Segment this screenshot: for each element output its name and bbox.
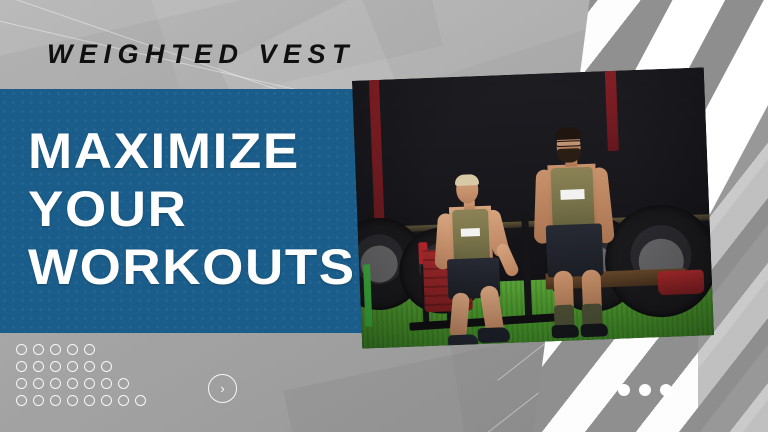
headline-line-3: WORKOUTS [28, 238, 356, 296]
pagination-dot[interactable] [618, 384, 630, 396]
circle-outline-dot [16, 361, 27, 372]
circle-outline-dot [50, 361, 61, 372]
circle-outline-dot [50, 344, 61, 355]
circle-outline-dot [101, 361, 112, 372]
circle-outline-dot [50, 378, 61, 389]
circle-outline-dot [84, 361, 95, 372]
hero-photo-scene [352, 67, 714, 348]
circle-outline-dot [67, 361, 78, 372]
circle-grid-row [16, 344, 146, 355]
circle-outline-dot [33, 378, 44, 389]
pagination-dot[interactable] [660, 384, 672, 396]
circle-outline-dot [84, 344, 95, 355]
circle-outline-dot [67, 378, 78, 389]
chevron-right-icon: › [220, 382, 224, 395]
circle-outline-dot [16, 395, 27, 406]
kicker-text: WEIGHTED VEST [47, 39, 355, 70]
headline-line-1: MAXIMIZE [28, 122, 356, 180]
circle-outline-dot [33, 344, 44, 355]
pagination-dots[interactable] [618, 384, 672, 396]
circle-outline-dot [135, 395, 146, 406]
circle-outline-dot [33, 361, 44, 372]
circle-outline-dot [33, 395, 44, 406]
circle-outline-dot [101, 395, 112, 406]
next-arrow-button[interactable]: › [208, 374, 237, 403]
hero-photo [352, 67, 714, 348]
circle-outline-dot [118, 395, 129, 406]
circle-outline-dot [67, 395, 78, 406]
circle-grid-row [16, 361, 146, 372]
circle-outline-dot [118, 378, 129, 389]
circle-outline-dot [50, 395, 61, 406]
promo-banner: WEIGHTED VEST MAXIMIZE YOUR WORKOUTS › [0, 0, 768, 432]
page-title: MAXIMIZE YOUR WORKOUTS [28, 122, 337, 296]
circle-outline-dot [16, 344, 27, 355]
circle-outline-dot [101, 378, 112, 389]
circle-outline-dot [84, 378, 95, 389]
headline-line-2: YOUR [28, 180, 356, 238]
photo-vignette [352, 67, 714, 348]
circle-grid-row [16, 395, 146, 406]
circle-outline-dot [67, 344, 78, 355]
circle-grid-row [16, 378, 146, 389]
pagination-dot[interactable] [639, 384, 651, 396]
circle-grid-decoration [16, 344, 146, 412]
circle-outline-dot [84, 395, 95, 406]
circle-outline-dot [16, 378, 27, 389]
